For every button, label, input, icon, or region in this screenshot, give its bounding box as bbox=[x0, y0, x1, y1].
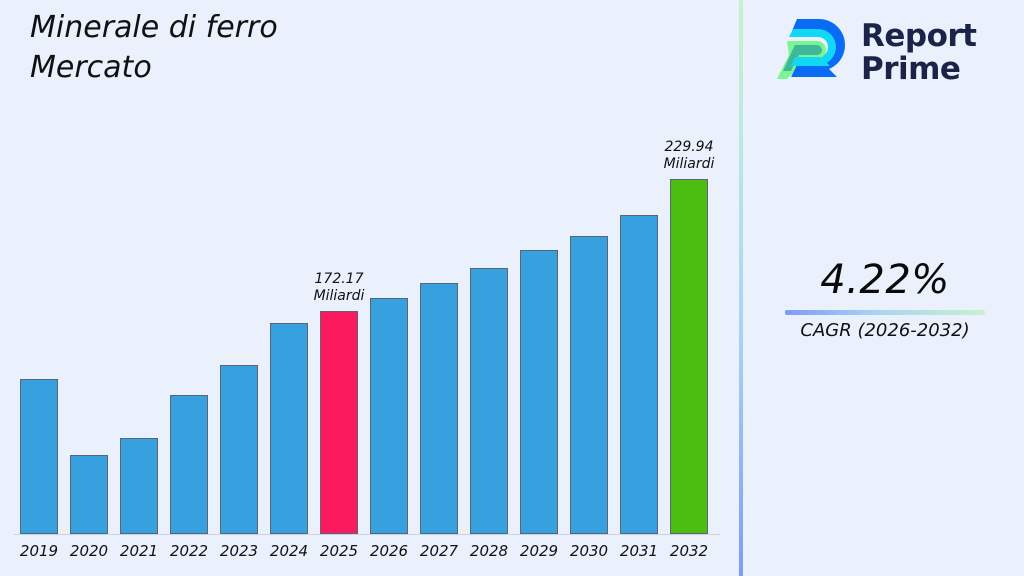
bar-2023[interactable] bbox=[220, 365, 258, 534]
cagr-block: 4.22% CAGR (2026-2032) bbox=[753, 256, 1017, 343]
brand-logo[interactable]: Report Prime bbox=[773, 10, 1013, 96]
bar-2031[interactable] bbox=[620, 215, 658, 534]
bar-2025[interactable] bbox=[320, 311, 358, 534]
brand-logo-text: Report Prime bbox=[861, 20, 977, 86]
bar-2021[interactable] bbox=[120, 438, 158, 534]
chart-infographic-page: Minerale di ferro Mercato 172.17 Miliard… bbox=[0, 0, 1024, 576]
cagr-divider-rule bbox=[785, 310, 985, 315]
bar-2024[interactable] bbox=[270, 323, 308, 534]
bar-2032[interactable] bbox=[670, 179, 708, 534]
bar-2019[interactable] bbox=[20, 379, 58, 534]
bar-2028[interactable] bbox=[470, 268, 508, 534]
bar-chart: 172.17 Miliardi229.94 Miliardi 201920202… bbox=[0, 0, 740, 576]
bar-2030[interactable] bbox=[570, 236, 608, 534]
cagr-caption: CAGR (2026-2032) bbox=[753, 319, 1017, 343]
bar-2022[interactable] bbox=[170, 395, 208, 534]
cagr-value: 4.22% bbox=[753, 256, 1017, 304]
bar-2029[interactable] bbox=[520, 250, 558, 534]
x-axis-label-2032: 2032 bbox=[659, 542, 719, 560]
right-panel: Report Prime 4.22% CAGR (2026-2032) bbox=[743, 0, 1024, 576]
report-prime-logo-mark bbox=[773, 15, 851, 91]
bar-value-label-2032: 229.94 Miliardi bbox=[638, 139, 740, 173]
x-axis-line bbox=[14, 534, 720, 535]
bar-2027[interactable] bbox=[420, 283, 458, 534]
bar-2026[interactable] bbox=[370, 298, 408, 534]
bar-2020[interactable] bbox=[70, 455, 108, 534]
